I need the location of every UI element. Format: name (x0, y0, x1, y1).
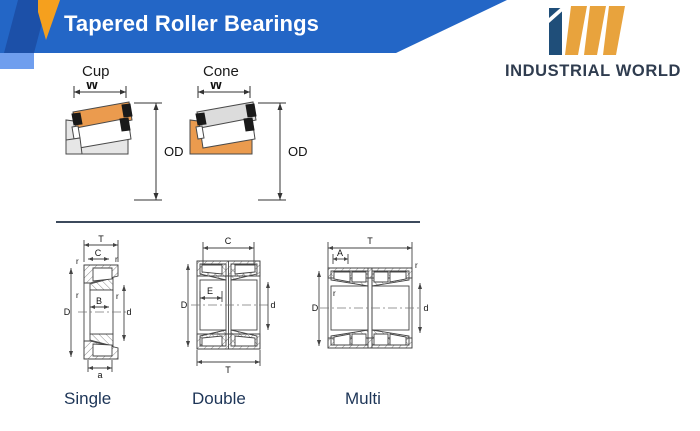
single-dim-B: B (96, 296, 102, 306)
single-dim-r1: r (76, 257, 79, 266)
cup-caption: Cup (82, 63, 110, 80)
single-dim-D: D (64, 307, 71, 317)
multi-dim-r2: r (333, 289, 336, 298)
header-light-block-accent (0, 53, 34, 69)
page-title: Tapered Roller Bearings (64, 11, 319, 37)
double-dim-d: d (270, 300, 275, 310)
cup-width-label: W (86, 82, 99, 92)
section-divider (56, 221, 420, 223)
double-caption: Double (192, 389, 246, 409)
multi-caption: Multi (345, 389, 381, 409)
brand-logo: INDUSTRIAL WORLD (487, 4, 699, 86)
multi-dim-d: d (423, 303, 428, 313)
cup-diagram: W OD (56, 82, 186, 207)
multi-dim-D: D (312, 303, 319, 313)
double-dim-D: D (181, 300, 188, 310)
single-dim-T: T (98, 234, 104, 244)
double-dim-E: E (207, 286, 213, 296)
slide-page: Tapered Roller Bearings INDUSTRIAL WORLD… (0, 0, 700, 431)
cone-od-label: OD (288, 144, 308, 159)
multi-dim-A: A (337, 248, 343, 258)
single-bearing-diagram: T C B D d a r r r r (56, 228, 176, 383)
double-dim-T: T (225, 365, 231, 375)
single-dim-C: C (95, 248, 102, 258)
single-dim-a: a (97, 370, 102, 380)
multi-bearing-diagram: T A D d r r (306, 228, 436, 383)
multi-dim-T: T (367, 236, 373, 246)
brand-name: INDUSTRIAL WORLD (487, 62, 699, 81)
iw-monogram-icon (545, 4, 645, 56)
multi-dim-r1: r (415, 261, 418, 270)
cone-width-label: W (210, 82, 223, 92)
double-dim-C: C (225, 236, 232, 246)
double-bearing-diagram: C E D d T (176, 228, 296, 383)
cone-diagram: W OD (180, 82, 310, 207)
single-dim-d: d (126, 307, 131, 317)
single-caption: Single (64, 389, 111, 409)
single-dim-r2: r (115, 255, 118, 264)
cone-caption: Cone (203, 63, 239, 80)
single-dim-r4: r (116, 292, 119, 301)
single-dim-r3: r (76, 291, 79, 300)
